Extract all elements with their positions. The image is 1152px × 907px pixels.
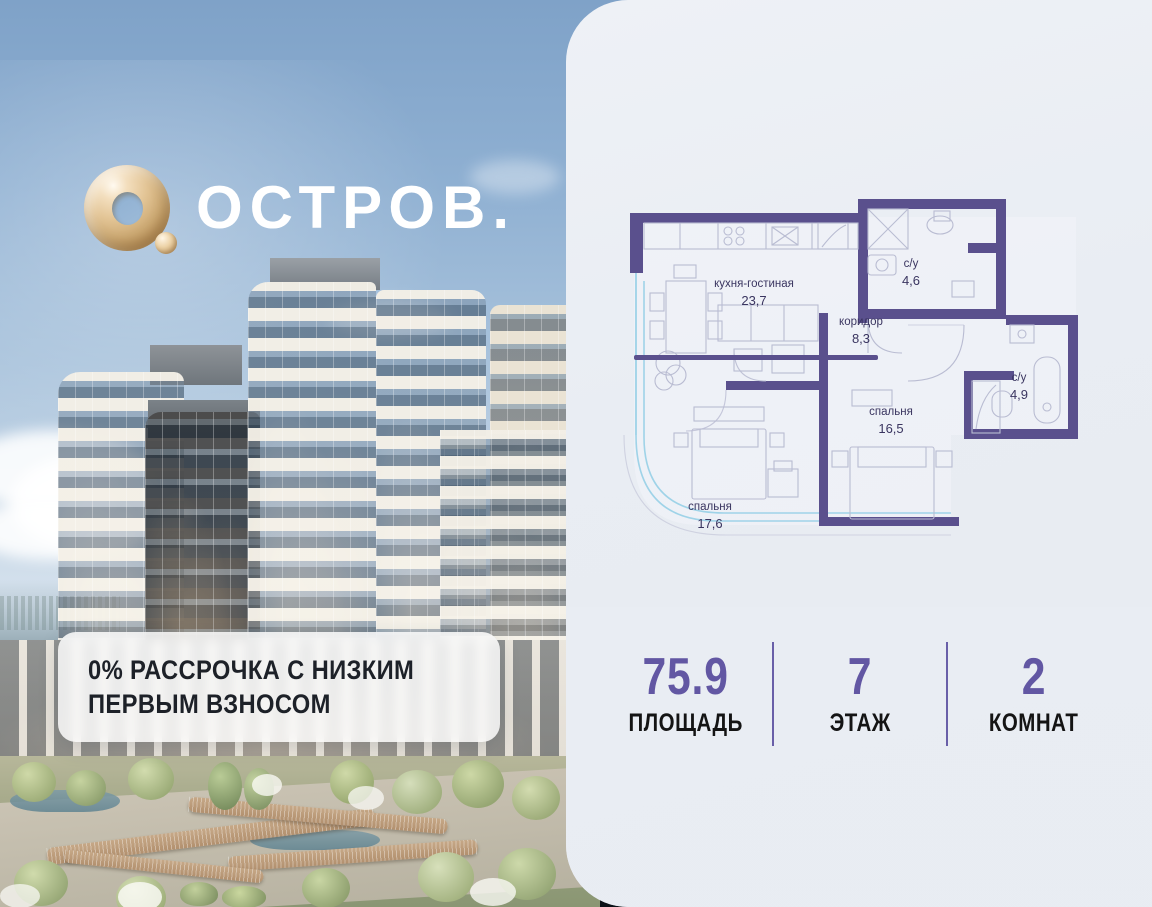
tree [66, 770, 106, 806]
room-label-bedroom2: спальня [688, 501, 732, 513]
flowering-shrub [348, 786, 384, 810]
brand-name: ОСТРОВ. [196, 178, 516, 238]
floorplan-drawing: .w { fill:#5a508d; } .f { fill:#f2f4f9; … [606, 185, 1126, 570]
stat-rooms: 2 КОМНАТ [948, 636, 1120, 752]
flowering-shrub [252, 774, 282, 796]
stat-divider [946, 642, 948, 746]
promo-banner: 0% РАССРОЧКА С НИЗКИМ ПЕРВЫМ ВЗНОСОМ [58, 632, 500, 742]
flowering-shrub [0, 884, 40, 907]
brand-logo: ОСТРОВ. [84, 165, 516, 251]
stat-area: 75.9 ПЛОЩАДЬ [600, 636, 772, 752]
tree [128, 758, 174, 800]
room-area-bedroom1: 16,5 [878, 421, 903, 436]
room-area-kitchen: 23,7 [741, 293, 766, 308]
room-label-bedroom1: спальня [869, 406, 913, 418]
room-label-bath1: с/у [904, 258, 919, 270]
flowering-shrub [470, 878, 516, 906]
stat-rooms-label: КОМНАТ [989, 710, 1079, 736]
room-label-kitchen: кухня-гостиная [714, 278, 794, 290]
room-area-bath1: 4,6 [902, 273, 920, 288]
shrub [180, 882, 218, 906]
tree [302, 868, 350, 907]
flowering-shrub [118, 882, 162, 907]
info-panel: .w { fill:#5a508d; } .f { fill:#f2f4f9; … [566, 0, 1152, 907]
room-area-corridor: 8,3 [852, 331, 870, 346]
stat-rooms-value: 2 [1022, 652, 1047, 703]
tree [452, 760, 504, 808]
stat-area-value: 75.9 [643, 652, 729, 703]
tree [208, 762, 242, 810]
apartment-stats: 75.9 ПЛОЩАДЬ 7 ЭТАЖ 2 КОМНАТ [600, 636, 1120, 752]
room-area-bedroom2: 17,6 [697, 516, 722, 531]
tree [418, 852, 474, 902]
gold-torus-icon [84, 165, 170, 251]
room-label-corridor: коридор [839, 316, 883, 328]
promo-line-1: 0% РАССРОЧКА С НИЗКИМ [88, 653, 424, 687]
tree [12, 762, 56, 802]
promo-line-2: ПЕРВЫМ ВЗНОСОМ [88, 687, 424, 721]
room-area-bath2: 4,9 [1010, 387, 1028, 402]
stat-floor-label: ЭТАЖ [829, 710, 890, 736]
room-label-bath2: с/у [1012, 372, 1027, 384]
stat-floor: 7 ЭТАЖ [774, 636, 946, 752]
tree [512, 776, 560, 820]
stat-divider [772, 642, 774, 746]
shrub [222, 886, 266, 907]
stat-floor-value: 7 [848, 652, 873, 703]
landscaped-courtyard [0, 756, 600, 907]
stat-area-label: ПЛОЩАДЬ [629, 710, 743, 736]
poster-root: ОСТРОВ. 0% РАССРОЧКА С НИЗКИМ ПЕРВЫМ ВЗН… [0, 0, 1152, 907]
tree [392, 770, 442, 814]
